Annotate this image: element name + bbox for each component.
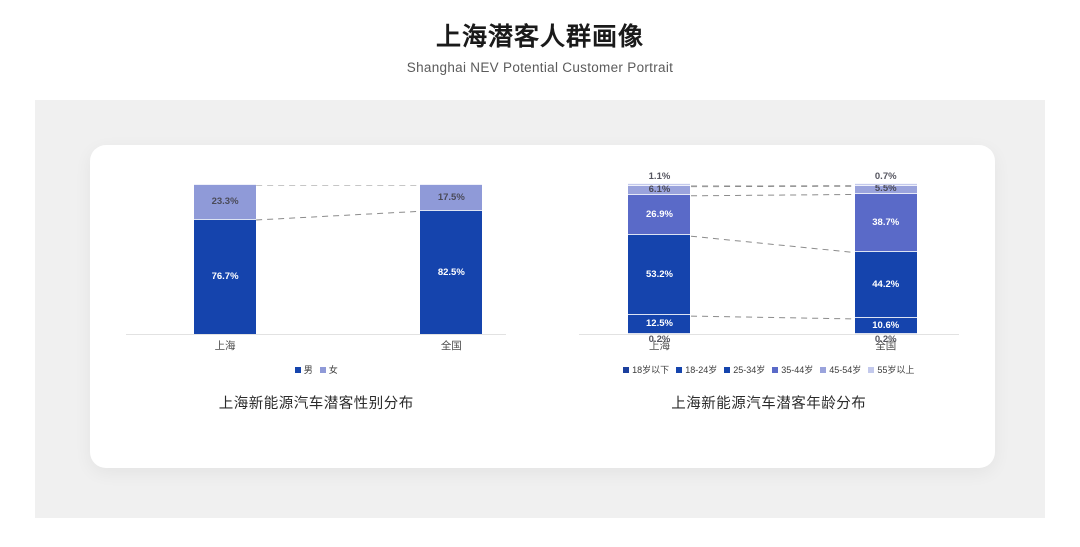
legend-item[interactable]: 55岁以上	[868, 363, 914, 376]
bar-segment[interactable]: 53.2%	[628, 234, 690, 314]
legend-swatch-icon	[676, 367, 682, 373]
bar-segment[interactable]: 23.3%	[194, 184, 256, 219]
plot-area-gender: 76.7%23.3% 82.5%17.5%	[90, 185, 543, 335]
bar-segment-label: 82.5%	[438, 268, 465, 278]
connector-line	[691, 194, 855, 195]
connector-line	[256, 211, 420, 220]
legend-label: 55岁以上	[877, 363, 914, 376]
bar-segment-label: 6.1%	[649, 185, 671, 195]
page-subtitle: Shanghai NEV Potential Customer Portrait	[0, 60, 1080, 75]
bar-segment-label: 1.1%	[649, 172, 671, 182]
plot-area-age: 0.2%12.5%53.2%26.9%6.1%1.1% 0.2%10.6%44.…	[543, 185, 996, 335]
legend-swatch-icon	[820, 367, 826, 373]
bar-age-national[interactable]: 0.2%10.6%44.2%38.7%5.5%0.7%	[855, 183, 917, 334]
bar-segment[interactable]: 0.7%	[855, 183, 917, 184]
bar-segment-label: 38.7%	[872, 218, 899, 228]
legend-item[interactable]: 35-44岁	[772, 363, 813, 376]
bar-segment[interactable]: 38.7%	[855, 193, 917, 251]
bar-segment-label: 10.6%	[872, 321, 899, 331]
bar-segment[interactable]: 17.5%	[420, 184, 482, 210]
legend-swatch-icon	[295, 367, 301, 373]
x-label-shanghai: 上海	[614, 338, 704, 353]
legend-label: 18岁以下	[632, 363, 669, 376]
legend-label: 18-24岁	[685, 363, 717, 376]
bar-segment-label: 26.9%	[646, 210, 673, 220]
slide-header: 上海潜客人群画像 Shanghai NEV Potential Customer…	[0, 22, 1080, 75]
bar-segment[interactable]: 82.5%	[420, 210, 482, 334]
bar-segment[interactable]: 44.2%	[855, 251, 917, 317]
legend-label: 25-34岁	[733, 363, 765, 376]
chart-gender: 76.7%23.3% 82.5%17.5% 上海 全国 男女 上海新能源汽车潜客…	[90, 145, 543, 468]
bar-segment[interactable]: 6.1%	[628, 185, 690, 194]
legend-swatch-icon	[868, 367, 874, 373]
bar-segment[interactable]: 1.1%	[628, 183, 690, 185]
slide-root: 上海潜客人群画像 Shanghai NEV Potential Customer…	[0, 0, 1080, 547]
bar-segment[interactable]: 26.9%	[628, 194, 690, 234]
legend-item[interactable]: 18-24岁	[676, 363, 717, 376]
charts-card: 76.7%23.3% 82.5%17.5% 上海 全国 男女 上海新能源汽车潜客…	[90, 145, 995, 468]
legend-item[interactable]: 男	[295, 363, 313, 376]
legend-gender: 男女	[90, 363, 543, 376]
legend-age: 18岁以下18-24岁25-34岁35-44岁45-54岁55岁以上	[543, 363, 996, 376]
bar-segment[interactable]: 10.6%	[855, 317, 917, 333]
bar-segment[interactable]: 5.5%	[855, 185, 917, 193]
bar-segment-label: 0.7%	[875, 172, 897, 182]
bar-segment-label: 12.5%	[646, 319, 673, 329]
caption-age: 上海新能源汽车潜客年龄分布	[543, 392, 996, 413]
bar-segment[interactable]: 76.7%	[194, 219, 256, 334]
legend-label: 45-54岁	[829, 363, 861, 376]
connector-line	[691, 236, 855, 252]
bar-segment[interactable]: 12.5%	[628, 314, 690, 333]
charts-row: 76.7%23.3% 82.5%17.5% 上海 全国 男女 上海新能源汽车潜客…	[90, 145, 995, 468]
axis-line-age	[579, 334, 959, 335]
legend-item[interactable]: 45-54岁	[820, 363, 861, 376]
x-label-shanghai: 上海	[180, 338, 270, 353]
legend-swatch-icon	[623, 367, 629, 373]
bar-segment-label: 5.5%	[875, 184, 897, 194]
x-axis-labels-age: 上海 全国	[543, 338, 996, 354]
bar-age-shanghai[interactable]: 0.2%12.5%53.2%26.9%6.1%1.1%	[628, 183, 690, 334]
bar-segment-label: 17.5%	[438, 193, 465, 203]
page-title: 上海潜客人群画像	[0, 22, 1080, 53]
legend-item[interactable]: 25-34岁	[724, 363, 765, 376]
x-label-national: 全国	[406, 338, 496, 353]
legend-swatch-icon	[724, 367, 730, 373]
bar-segment-label: 76.7%	[212, 272, 239, 282]
x-label-national: 全国	[841, 338, 931, 353]
chart-age: 0.2%12.5%53.2%26.9%6.1%1.1% 0.2%10.6%44.…	[543, 145, 996, 468]
bar-segment-label: 23.3%	[212, 197, 239, 207]
legend-swatch-icon	[772, 367, 778, 373]
axis-line-gender	[126, 334, 506, 335]
bar-gender-national[interactable]: 82.5%17.5%	[420, 184, 482, 334]
connector-line	[691, 316, 855, 319]
legend-swatch-icon	[320, 367, 326, 373]
connector-lines-age	[543, 185, 995, 335]
bar-segment-label: 53.2%	[646, 270, 673, 280]
legend-item[interactable]: 18岁以下	[623, 363, 669, 376]
caption-gender: 上海新能源汽车潜客性别分布	[90, 392, 543, 413]
legend-label: 35-44岁	[781, 363, 813, 376]
legend-label: 男	[304, 363, 313, 376]
legend-label: 女	[329, 363, 338, 376]
legend-item[interactable]: 女	[320, 363, 338, 376]
x-axis-labels-gender: 上海 全国	[90, 338, 543, 354]
bar-segment-label: 44.2%	[872, 280, 899, 290]
bar-gender-shanghai[interactable]: 76.7%23.3%	[194, 184, 256, 334]
